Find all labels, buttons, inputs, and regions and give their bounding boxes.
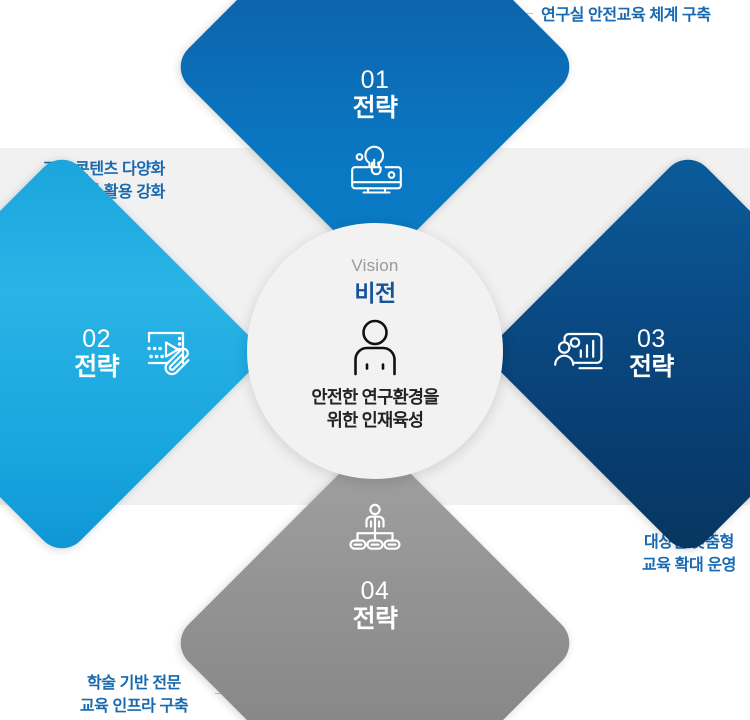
vision-description-line1: 안전한 연구환경을 [311, 386, 438, 409]
strategy-card-03-content: 03 전략 [543, 209, 750, 499]
strategy-card-02[interactable]: 02 전략 [0, 209, 207, 499]
vision-description: 안전한 연구환경을 위한 인재육성 [311, 386, 438, 432]
strategy-04-number: 04 [361, 577, 390, 605]
callout-strategy-03-line2: 교육 확대 운영 [628, 554, 750, 577]
org-chart-icon [345, 502, 405, 559]
strategy-card-04[interactable]: 04 전략 [230, 498, 520, 720]
lightbulb-monitor-icon [343, 141, 407, 204]
callout-strategy-04-line2: 교육 인프라 구축 [60, 695, 208, 718]
vision-circle: Vision 비전 안전한 연구환경을 위한 인재육성 [247, 223, 503, 479]
strategy-card-01-content: 01 전략 [230, 0, 520, 212]
strategy-02-number: 02 [74, 325, 119, 353]
video-play-paperclip-icon [135, 322, 201, 387]
vision-kor-label: 비전 [354, 280, 395, 308]
person-icon [346, 317, 404, 382]
callout-strategy-01-line1: 연구실 안전교육 체계 구축 [541, 4, 711, 27]
presenter-barchart-icon [549, 323, 613, 386]
strategy-01-word: 전략 [353, 94, 398, 124]
strategy-card-04-content: 04 전략 [230, 498, 520, 720]
strategy-03-word: 전략 [629, 353, 674, 383]
strategy-04-word: 전략 [353, 605, 398, 635]
vision-description-line2: 위한 인재육성 [311, 409, 438, 432]
vision-strategy-diagram: 연구실 안전교육 체계 구축 교육 콘텐츠 다양화 및 활용 강화 대상별 맞춤… [0, 0, 750, 720]
strategy-02-word: 전략 [74, 353, 119, 383]
callout-strategy-01: 연구실 안전교육 체계 구축 [541, 4, 711, 27]
strategy-card-01[interactable]: 01 전략 [230, 0, 520, 212]
vision-eng-label: Vision [351, 257, 398, 276]
strategy-03-number: 03 [629, 325, 674, 353]
callout-strategy-04: 학술 기반 전문 교육 인프라 구축 [60, 672, 208, 718]
strategy-card-02-content: 02 전략 [0, 209, 207, 499]
callout-strategy-04-line1: 학술 기반 전문 [60, 672, 208, 695]
strategy-01-number: 01 [361, 66, 390, 94]
strategy-card-03[interactable]: 03 전략 [543, 209, 750, 499]
